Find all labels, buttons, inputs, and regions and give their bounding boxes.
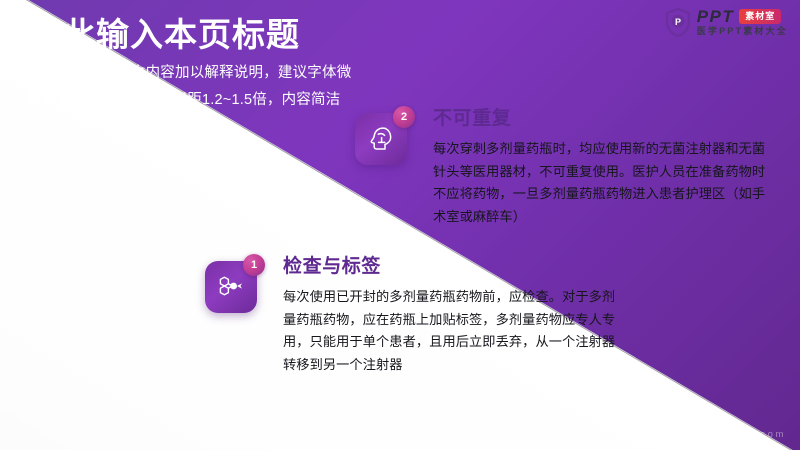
page-title: 在此输入本页标题 bbox=[28, 14, 300, 55]
block-heading-2: 不可重复 bbox=[433, 108, 778, 131]
block-text-2: 不可重复 每次穿刺多剂量药瓶时，均应使用新的无菌注射器和无菌针头等医用器材，不可… bbox=[433, 108, 778, 229]
site-watermark: www.ppter.com bbox=[688, 429, 786, 440]
logo-text-group: PPT 素材室 医学PPT素材大全 bbox=[697, 8, 788, 37]
logo-badge: 素材室 bbox=[739, 9, 781, 23]
shield-icon: P bbox=[665, 8, 691, 37]
molecule-icon bbox=[216, 272, 246, 302]
page-subtitle: 请在此处添加文本内容加以解释说明，建议字体微软雅黑，字号12~24，行距1.2~… bbox=[28, 60, 358, 114]
icon-group-1: 1 bbox=[205, 256, 263, 314]
head-profile-icon bbox=[366, 124, 396, 154]
block-body-1: 每次使用已开封的多剂量药瓶药物前，应检查。对于多剂量药瓶药物，应在药瓶上加贴标签… bbox=[283, 286, 628, 377]
step-badge-2: 2 bbox=[393, 106, 415, 128]
block-text-1: 检查与标签 每次使用已开封的多剂量药瓶药物前，应检查。对于多剂量药瓶药物，应在药… bbox=[283, 256, 628, 377]
icon-group-2: 2 bbox=[355, 108, 413, 166]
logo-tagline: 医学PPT素材大全 bbox=[697, 26, 788, 37]
slide-canvas: 在此输入本页标题 请在此处添加文本内容加以解释说明，建议字体微软雅黑，字号12~… bbox=[0, 0, 800, 450]
block-body-2: 每次穿刺多剂量药瓶时，均应使用新的无菌注射器和无菌针头等医用器材，不可重复使用。… bbox=[433, 138, 778, 229]
shield-letter: P bbox=[675, 17, 681, 27]
logo-primary-row: PPT 素材室 bbox=[697, 8, 788, 25]
block-heading-1: 检查与标签 bbox=[283, 256, 628, 279]
logo-brand-text: PPT bbox=[697, 8, 735, 25]
brand-logo: P PPT 素材室 医学PPT素材大全 bbox=[665, 8, 788, 37]
step-badge-1: 1 bbox=[243, 254, 265, 276]
